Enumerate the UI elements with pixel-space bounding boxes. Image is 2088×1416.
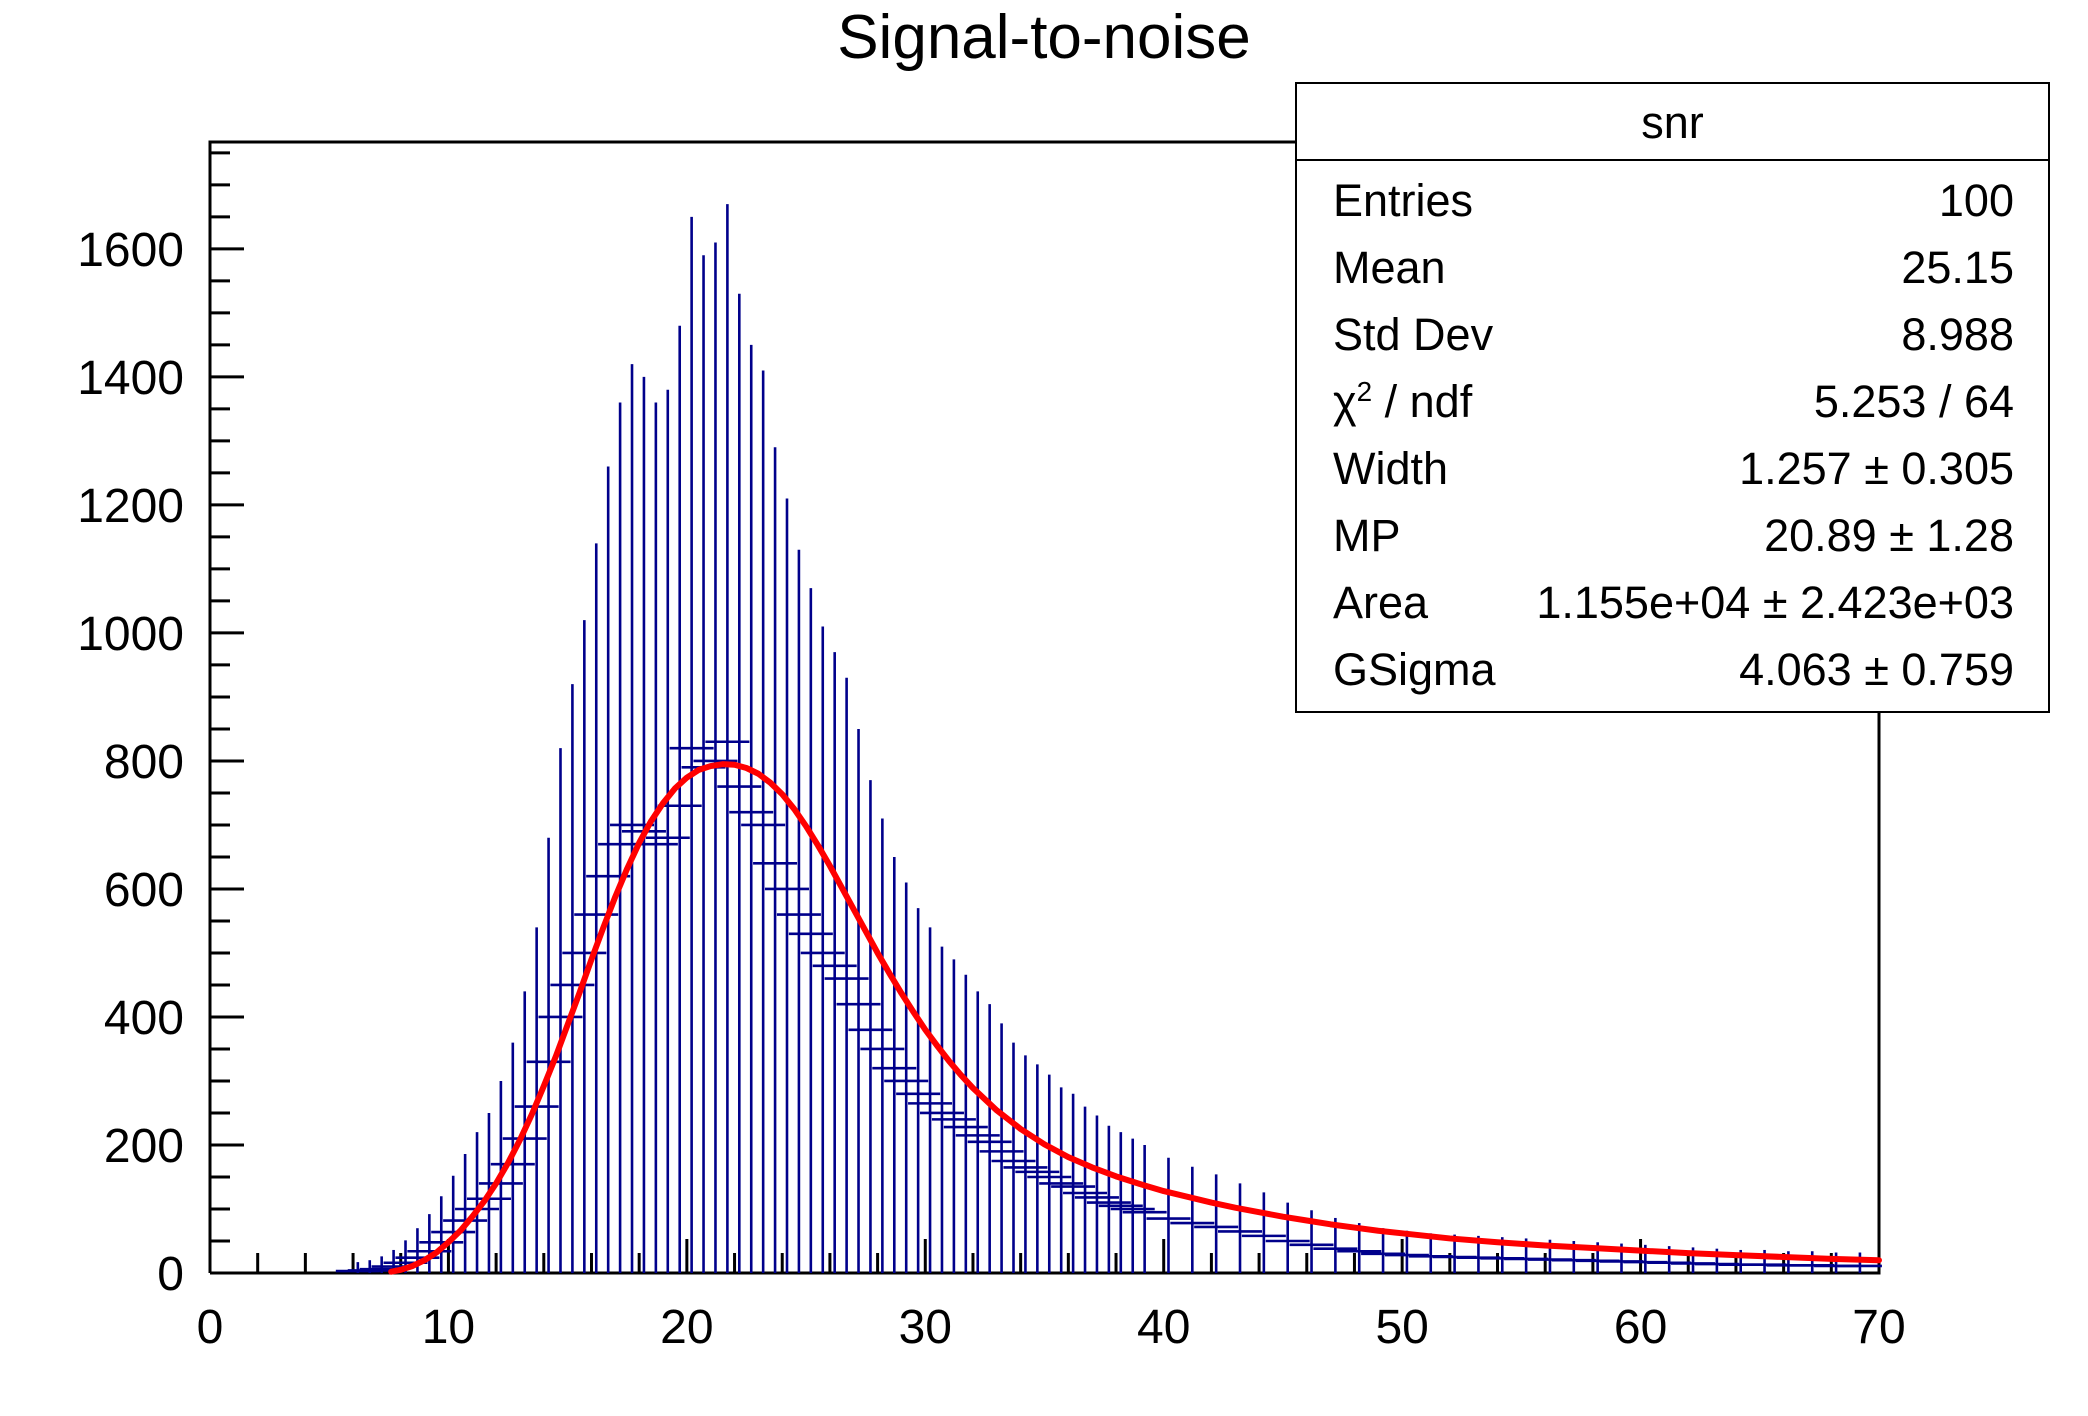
data-point <box>813 652 857 1273</box>
data-point <box>789 588 833 1273</box>
stats-row: Area1.155e+04 ± 2.423e+03 <box>1297 569 2048 636</box>
data-point <box>741 371 785 1273</box>
x-tick-label: 70 <box>1852 1301 1905 1354</box>
x-tick-label: 60 <box>1614 1301 1667 1354</box>
stats-row-label: GSigma <box>1333 647 1496 692</box>
stats-row: χ2 / ndf5.253 / 64 <box>1297 368 2048 435</box>
stats-row-label: Mean <box>1333 245 1446 290</box>
stats-row: GSigma4.063 ± 0.759 <box>1297 636 2048 703</box>
stats-row: Width1.257 ± 0.305 <box>1297 435 2048 502</box>
stats-row: Std Dev8.988 <box>1297 301 2048 368</box>
x-tick-label: 10 <box>422 1301 475 1354</box>
root-canvas: Signal-to-noise 020040060080010001200140… <box>0 0 2088 1416</box>
data-point <box>860 819 904 1273</box>
data-point <box>884 883 928 1273</box>
data-point <box>1063 1107 1107 1273</box>
stats-row-value: 25.15 <box>1901 245 2014 290</box>
data-point <box>777 550 821 1273</box>
stats-row-label: Area <box>1333 580 1428 625</box>
data-point <box>598 403 642 1273</box>
data-point <box>717 294 761 1273</box>
data-point <box>455 1132 499 1273</box>
stats-row-value: 100 <box>1939 178 2014 223</box>
data-point <box>670 217 714 1273</box>
stats-row-label: Std Dev <box>1333 312 1493 357</box>
data-point <box>729 345 773 1273</box>
x-tick-label: 30 <box>899 1301 952 1354</box>
x-tick-label: 40 <box>1137 1301 1190 1354</box>
y-tick-label: 800 <box>104 736 184 789</box>
stats-row: Entries100 <box>1297 167 2048 234</box>
data-point <box>753 447 797 1273</box>
stats-row-label: Width <box>1333 446 1448 491</box>
stats-row-label: χ2 / ndf <box>1333 379 1472 424</box>
data-point <box>896 908 940 1273</box>
data-point <box>705 204 749 1273</box>
data-point <box>1087 1126 1131 1273</box>
y-tick-label: 1000 <box>77 608 184 661</box>
stats-row-value: 5.253 / 64 <box>1814 379 2014 424</box>
data-point <box>693 242 737 1273</box>
stats-row-label: Entries <box>1333 178 1473 223</box>
stats-row-value: 20.89 ± 1.28 <box>1764 513 2014 558</box>
fit-curve <box>391 764 1879 1272</box>
y-tick-label: 1600 <box>77 224 184 277</box>
data-point <box>610 364 654 1273</box>
data-point <box>1027 1075 1071 1273</box>
y-tick-label: 1200 <box>77 480 184 533</box>
data-point <box>1039 1087 1083 1273</box>
data-point <box>825 678 869 1273</box>
data-point <box>527 838 571 1273</box>
data-point <box>908 927 952 1273</box>
stats-box[interactable]: snr Entries100Mean25.15Std Dev8.988χ2 / … <box>1295 82 2050 713</box>
data-point <box>1146 1158 1190 1273</box>
page-title: Signal-to-noise <box>837 3 1251 72</box>
y-tick-label: 600 <box>104 864 184 917</box>
data-point <box>837 729 881 1273</box>
data-point <box>1790 1251 1834 1273</box>
stats-box-rows: Entries100Mean25.15Std Dev8.988χ2 / ndf5… <box>1297 161 2048 711</box>
data-point <box>801 627 845 1273</box>
data-point <box>550 684 594 1273</box>
y-tick-label: 200 <box>104 1120 184 1173</box>
data-point <box>992 1043 1036 1273</box>
data-point <box>944 975 988 1273</box>
x-tick-label: 50 <box>1375 1301 1428 1354</box>
data-point <box>1003 1055 1047 1273</box>
stats-row-value: 4.063 ± 0.759 <box>1739 647 2014 692</box>
x-tick-label: 20 <box>660 1301 713 1354</box>
stats-row: MP20.89 ± 1.28 <box>1297 502 2048 569</box>
stats-box-title: snr <box>1297 84 2048 161</box>
data-point <box>980 1023 1024 1273</box>
stats-row-label: MP <box>1333 513 1401 558</box>
y-tick-label: 0 <box>157 1248 184 1301</box>
data-point <box>956 991 1000 1273</box>
data-point <box>765 499 809 1273</box>
data-point <box>968 1004 1012 1273</box>
stats-row-value: 8.988 <box>1901 312 2014 357</box>
data-point <box>562 620 606 1273</box>
stats-row-value: 1.155e+04 ± 2.423e+03 <box>1536 580 2014 625</box>
stats-row-value: 1.257 ± 0.305 <box>1739 446 2014 491</box>
y-tick-label: 400 <box>104 992 184 1045</box>
data-point <box>872 857 916 1273</box>
data-point <box>848 780 892 1273</box>
stats-row: Mean25.15 <box>1297 234 2048 301</box>
x-tick-label: 0 <box>197 1301 224 1354</box>
fit-curve-path <box>391 764 1879 1272</box>
data-point <box>920 947 964 1273</box>
y-tick-label: 1400 <box>77 352 184 405</box>
data-point <box>932 959 976 1273</box>
